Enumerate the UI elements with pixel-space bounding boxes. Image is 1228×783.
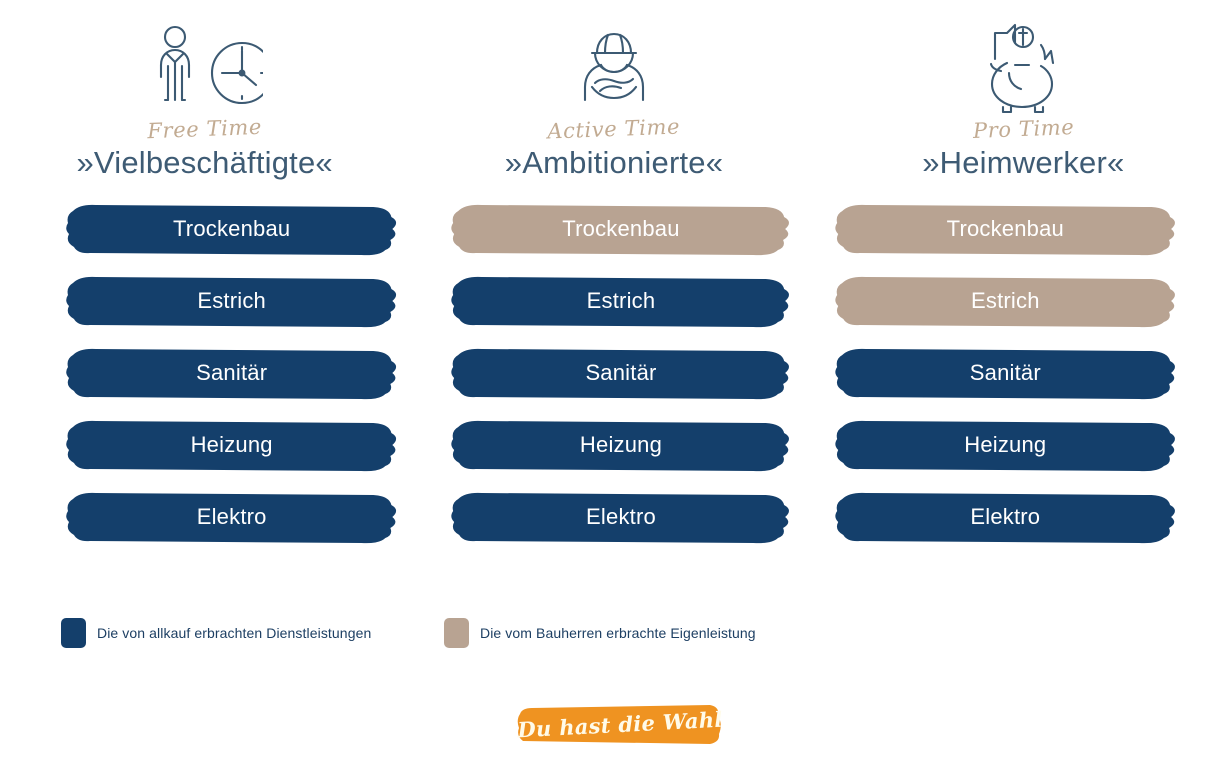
service-bar[interactable]: Elektro: [62, 489, 401, 547]
worker-with-helmet-icon: [409, 0, 818, 113]
service-label: Heizung: [62, 417, 401, 475]
du-hast-die-wahl-banner[interactable]: Du hast die Wahl: [514, 700, 726, 748]
service-bar[interactable]: Trockenbau: [831, 201, 1180, 259]
service-bar[interactable]: Trockenbau: [447, 201, 794, 259]
legend-item-allkauf: Die von allkauf erbrachten Dienstleistun…: [61, 618, 371, 648]
person-with-clock-icon: [0, 0, 409, 113]
column-heading: »Ambitionierte«: [409, 147, 818, 180]
script-label: Pro Time: [818, 111, 1228, 148]
service-bar[interactable]: Heizung: [447, 417, 794, 475]
service-bar[interactable]: Sanitär: [62, 345, 401, 403]
service-bar-list: Trockenbau Estrich Sanitär: [831, 201, 1180, 547]
service-label: Elektro: [62, 489, 401, 547]
service-label: Trockenbau: [447, 201, 794, 259]
script-label: Free Time: [0, 111, 410, 148]
infographic-canvas: Free Time »Vielbeschäftigte« Trockenbau …: [0, 0, 1228, 783]
service-label: Estrich: [831, 273, 1180, 331]
service-bar[interactable]: Elektro: [831, 489, 1180, 547]
service-bar-list: Trockenbau Estrich Sanitär: [62, 201, 401, 547]
service-bar[interactable]: Heizung: [62, 417, 401, 475]
service-bar[interactable]: Sanitär: [831, 345, 1180, 403]
service-bar[interactable]: Estrich: [447, 273, 794, 331]
service-bar[interactable]: Sanitär: [447, 345, 794, 403]
service-bar[interactable]: Trockenbau: [62, 201, 401, 259]
column-ambitionierte: Active Time »Ambitionierte« Trockenbau E…: [409, 0, 818, 600]
service-label: Trockenbau: [62, 201, 401, 259]
service-label: Estrich: [62, 273, 401, 331]
legend-label: Die vom Bauherren erbrachte Eigenleistun…: [480, 625, 756, 641]
legend-item-bauherr: Die vom Bauherren erbrachte Eigenleistun…: [444, 618, 756, 648]
column-vielbeschaeftigte: Free Time »Vielbeschäftigte« Trockenbau …: [0, 0, 409, 600]
service-label: Trockenbau: [831, 201, 1180, 259]
service-label: Elektro: [831, 489, 1180, 547]
service-label: Estrich: [447, 273, 794, 331]
service-bar[interactable]: Elektro: [447, 489, 794, 547]
service-bar[interactable]: Estrich: [831, 273, 1180, 331]
service-label: Sanitär: [447, 345, 794, 403]
service-label: Heizung: [831, 417, 1180, 475]
comparison-columns: Free Time »Vielbeschäftigte« Trockenbau …: [0, 0, 1228, 600]
service-bar-list: Trockenbau Estrich Sanitär: [447, 201, 794, 547]
legend-label: Die von allkauf erbrachten Dienstleistun…: [97, 625, 371, 641]
legend-swatch-navy: [61, 618, 86, 648]
column-heading: »Vielbeschäftigte«: [0, 147, 409, 180]
column-heimwerker: Pro Time »Heimwerker« Trockenbau Estrich: [819, 0, 1228, 600]
legend: Die von allkauf erbrachten Dienstleistun…: [0, 618, 1228, 658]
service-label: Elektro: [447, 489, 794, 547]
column-heading: »Heimwerker«: [819, 147, 1228, 180]
service-label: Sanitär: [62, 345, 401, 403]
service-bar[interactable]: Estrich: [62, 273, 401, 331]
script-label: Active Time: [409, 111, 819, 148]
piggy-bank-icon: [819, 0, 1228, 113]
service-bar[interactable]: Heizung: [831, 417, 1180, 475]
service-label: Sanitär: [831, 345, 1180, 403]
service-label: Heizung: [447, 417, 794, 475]
legend-swatch-tan: [444, 618, 469, 648]
